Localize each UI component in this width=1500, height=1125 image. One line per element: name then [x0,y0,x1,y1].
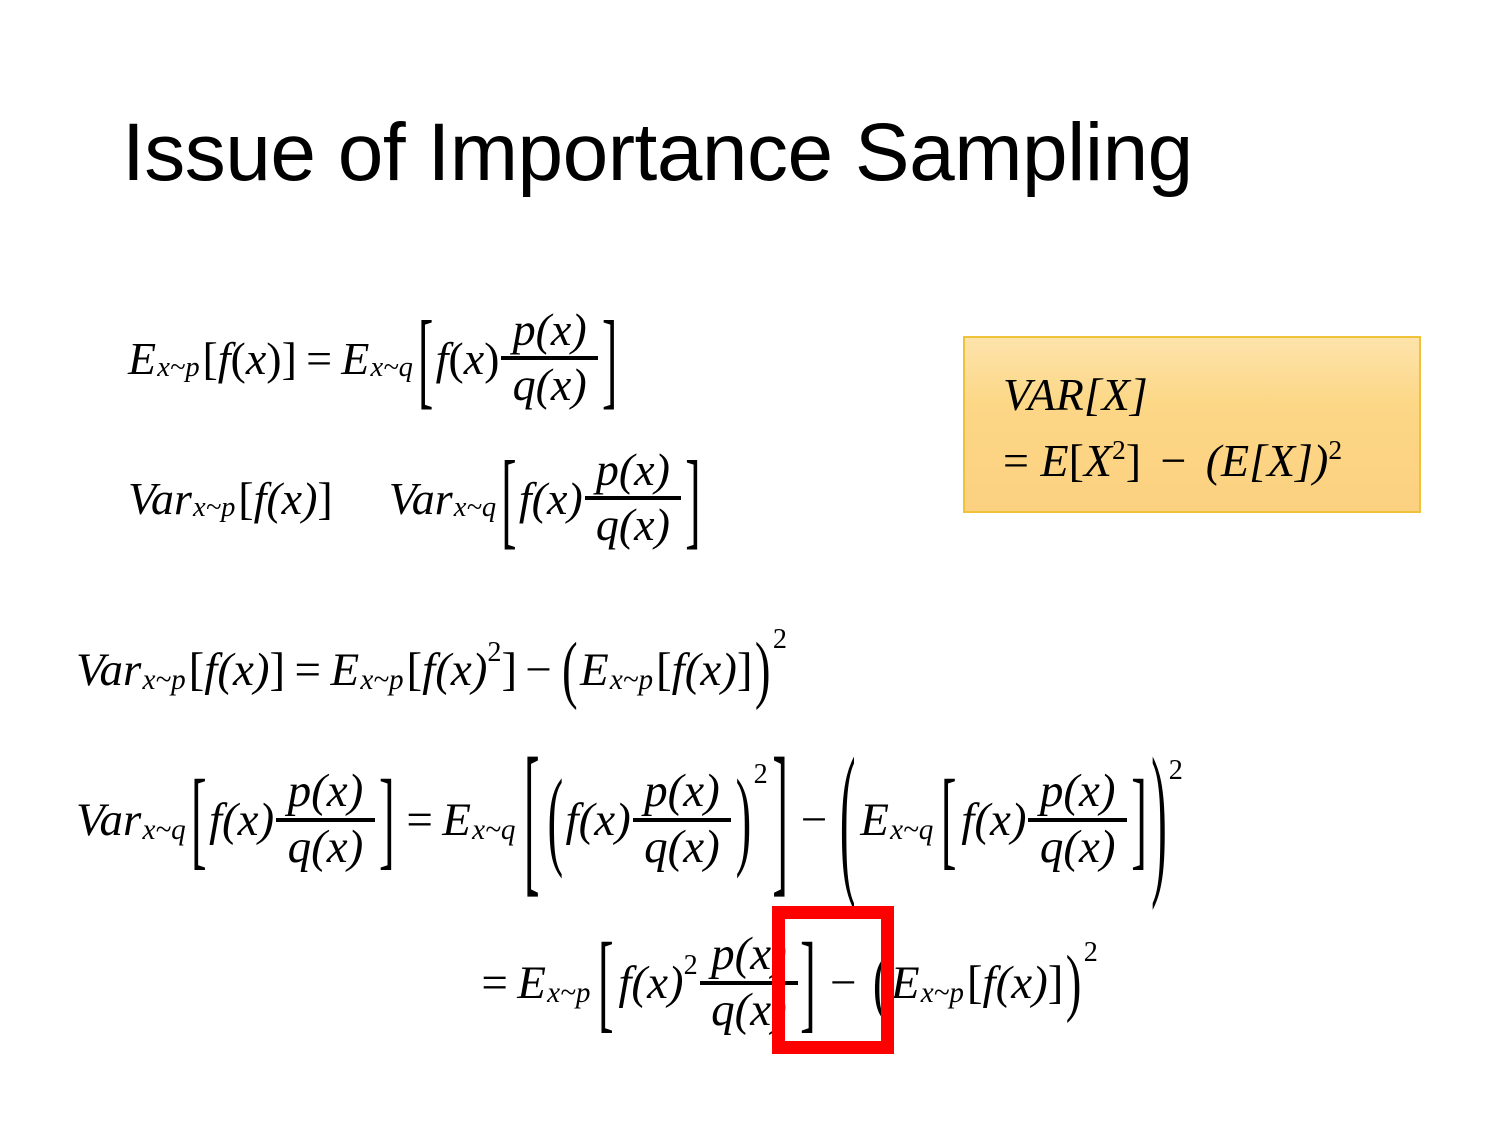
bracket-open: [ [189,793,209,847]
sym-lbracket: [ [656,643,672,697]
bracket-open-inner: [ [936,793,961,847]
fraction-p-over-q: p(x)q(x) [585,447,682,549]
eq4-second-moment-term: Ex~q[(f(x)p(x)q(x))2] [442,768,792,872]
sym-x: x [464,332,484,385]
sym-f-of-x: f(x) [519,472,583,525]
sym-f-of-x: f(x) [209,793,274,847]
sym-X: X [1084,435,1112,486]
sym-Var: Var [76,643,141,697]
sym-f-of-x: f(x) [618,956,683,1010]
sym-Var: Var [76,793,141,847]
fraction-denominator: q(x) [1036,823,1119,872]
subscript-x-p: x~p [141,664,188,697]
sym-minus: − [1153,435,1195,486]
sym-E: E [580,643,609,697]
sym-f-of-x: f(x) [983,956,1048,1010]
rparen-glyph: ) [755,627,771,713]
superscript-two: 2 [1112,434,1126,465]
subscript-x-q: x~q [471,814,518,847]
eq3-mean-squared: (Ex~p[f(x)])2 [560,643,787,697]
sym-lbracket: [ [406,643,422,697]
sym-minus: − [793,793,835,847]
sym-rbracket: ] [1126,435,1141,486]
sym-f-of-x: f(x) [254,472,318,525]
lparen-glyph: ( [562,627,578,713]
sym-f-of-x: f(x) [961,793,1026,847]
rbracket-glyph: ] [1131,757,1147,884]
sym-lparen: ( [231,332,246,385]
rparen-glyph: ) [736,757,752,884]
lparen-glyph: ( [548,757,564,884]
superscript-two: 2 [684,950,698,982]
eq4-lhs: Varx~q[f(x)p(x)q(x)] [76,768,397,872]
sym-Var: Var [389,472,453,525]
sym-E: E [517,956,546,1010]
fraction-numerator: p(x) [640,768,723,817]
sym-f-of-x: f(x) [204,643,269,697]
sym-equals: = [285,643,330,697]
callout-second-term: (E[X]) [1206,435,1329,486]
subscript-x-p: x~p [920,977,967,1010]
sym-f-of-x: f(x) [566,793,631,847]
subscript-x-q: x~q [369,352,415,384]
lbracket-glyph: [ [598,920,614,1047]
callout-line-1: VAR[X] [1003,368,1148,421]
bracket-close: ] [600,332,620,385]
sym-equals: = [1003,435,1029,486]
paren-close-outer: ) [1149,793,1168,847]
sym-E: E [341,332,369,385]
eq5-expectation-term: Ex~p[f(x)2p(x)q(x)] [517,931,815,1035]
subscript-x-p: x~p [546,977,593,1010]
superscript-two: 2 [1169,755,1183,787]
sym-Var: Var [128,472,192,525]
equation-importance-sampling-identity: Ex~p[f(x)] = Ex~q[f(x)p(x)q(x)] [128,308,620,408]
rparen-glyph: ) [1066,940,1082,1026]
eq5-mean-squared-term: (Ex~p[f(x)])2 [870,956,1097,1010]
sym-rbracket: ] [282,332,297,385]
sym-f-of-x: f(x) [672,643,737,697]
fraction-p-over-q: p(x)q(x) [633,768,732,872]
superscript-two: 2 [1328,434,1342,465]
sym-rbracket: ] [1048,956,1064,1010]
paren-open-outer: ( [835,793,860,847]
sym-minus: − [517,643,559,697]
superscript-two: 2 [754,759,768,791]
sym-E: E [330,643,359,697]
paren-close: ) [1063,956,1083,1010]
sym-x: x [246,332,266,385]
subscript-x-q: x~q [889,814,936,847]
fraction-p-over-q: p(x)q(x) [501,307,598,409]
superscript-two: 2 [1084,937,1098,969]
slide-canvas: Issue of Importance Sampling Ex~p[f(x)] … [0,0,1500,1125]
subscript-x-q: x~q [141,814,188,847]
superscript-two: 2 [773,624,787,656]
subscript-x-p: x~p [609,664,656,697]
lparen-glyph: ( [840,723,856,917]
sym-lbracket: [ [202,332,217,385]
lbracket-glyph: [ [941,757,957,884]
sym-equals: = [297,332,341,385]
eq2-var-p: Varx~p[f(x)] [128,472,333,525]
paren-close: ) [753,643,773,697]
sym-lparen: ( [448,332,463,385]
paren-open-inner: ( [545,793,565,847]
sym-f: f [436,332,449,385]
lbracket-glyph: [ [418,296,433,421]
eq2-var-q: Varx~q[f(x)p(x)q(x)] [389,447,703,549]
bracket-open: [ [593,956,618,1010]
bracket-open: [ [499,472,519,525]
sym-equals: = [397,793,442,847]
sym-E: E [442,793,471,847]
bracket-close-outer: ] [768,793,793,847]
equation-variance-comparison: Varx~p[f(x)] Varx~q[f(x)p(x)q(x)] [128,448,703,548]
rbracket-glyph: ] [772,723,788,917]
rbracket-glyph: ] [685,436,700,561]
rbracket-glyph: ] [379,757,395,884]
paren-open: ( [560,643,580,697]
rbracket-glyph: ] [602,296,617,421]
sym-f: f [218,332,231,385]
equation-variance-expansion-under-p: Varx~p[f(x)] = Ex~p[f(x)2] − (Ex~p[f(x)]… [76,624,787,716]
bracket-close: ] [683,472,703,525]
subscript-x-q: x~q [453,492,499,524]
bracket-open: [ [416,332,436,385]
fraction-numerator: p(x) [284,768,367,817]
callout-line-2: = E[X2] − (E[X])2 [1003,434,1342,487]
sym-rbracket: ] [737,643,753,697]
eq3-second-moment: Ex~p[f(x)2] [330,643,517,697]
subscript-x-p: x~p [192,492,238,524]
bracket-close: ] [377,793,397,847]
lbracket-glyph: [ [524,723,540,917]
eq1-rhs: Ex~q[f(x)p(x)q(x)] [341,307,619,409]
superscript-two: 2 [487,637,501,669]
sym-equals: = [472,956,517,1010]
sym-f-of-x: f(x) [422,643,487,697]
fraction-denominator: q(x) [640,823,723,872]
sym-E: E [1040,435,1068,486]
fraction-denominator: q(x) [592,501,673,549]
fraction-numerator: p(x) [509,307,590,355]
eq1-lhs: Ex~p[f(x)] [128,332,297,385]
sym-rbracket: ] [501,643,517,697]
page-title: Issue of Importance Sampling [122,112,1382,194]
fraction-numerator: p(x) [1036,768,1119,817]
sym-lbracket: [ [967,956,983,1010]
sym-E: E [860,793,889,847]
sym-rbracket: ] [270,643,286,697]
sym-lbracket: [ [1069,435,1084,486]
fraction-denominator: q(x) [284,823,367,872]
paren-close-inner: ) [733,793,753,847]
sym-rparen: ) [266,332,281,385]
variance-definition-callout: VAR[X] = E[X2] − (E[X])2 [963,336,1421,513]
sym-E: E [891,956,920,1010]
eq3-lhs: Varx~p[f(x)] [76,643,285,697]
bracket-open-outer: [ [518,793,545,847]
fraction-numerator: p(x) [592,447,673,495]
sym-lbracket: [ [189,643,205,697]
fraction-denominator: q(x) [509,361,590,409]
bracket-close-inner: ] [1129,793,1149,847]
sym-lbracket: [ [238,472,253,525]
rparen-glyph: ) [1151,723,1167,917]
sym-rbracket: ] [317,472,332,525]
lbracket-glyph: [ [191,757,207,884]
subscript-x-p: x~p [156,352,202,384]
red-highlight-box [772,906,894,1054]
sym-rparen: ) [484,332,499,385]
fraction-p-over-q: p(x)q(x) [1028,768,1127,872]
fraction-p-over-q: p(x)q(x) [276,768,375,872]
subscript-x-p: x~p [359,664,406,697]
lbracket-glyph: [ [501,436,516,561]
eq4-mean-squared-term: (Ex~q[f(x)p(x)q(x)])2 [835,768,1183,872]
sym-E: E [128,332,156,385]
equation-variance-expansion-under-q: Varx~q[f(x)p(x)q(x)] = Ex~q[(f(x)p(x)q(x… [76,740,1183,900]
